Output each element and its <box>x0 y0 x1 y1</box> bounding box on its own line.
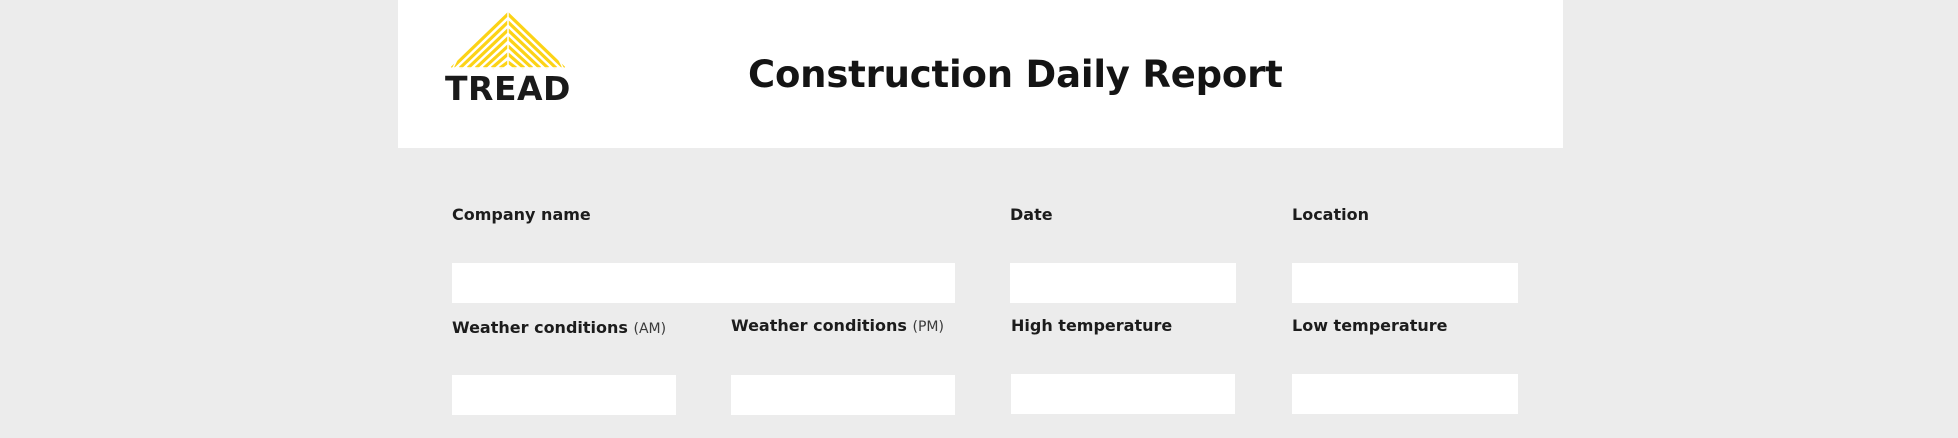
input-high-temperature[interactable] <box>1011 374 1235 414</box>
input-company-name[interactable] <box>452 263 955 303</box>
label-company-name: Company name <box>452 205 955 225</box>
label-low-temperature-text: Low temperature <box>1292 316 1447 335</box>
label-weather-conditions-am-text: Weather conditions <box>452 318 628 337</box>
field-weather-conditions-pm: Weather conditions (PM) <box>731 316 955 415</box>
label-company-name-text: Company name <box>452 205 591 224</box>
field-company-name: Company name <box>452 205 955 303</box>
field-low-temperature: Low temperature <box>1292 316 1518 414</box>
label-location-text: Location <box>1292 205 1369 224</box>
label-location: Location <box>1292 205 1518 225</box>
label-date-text: Date <box>1010 205 1053 224</box>
field-location: Location <box>1292 205 1518 303</box>
label-weather-conditions-am: Weather conditions (AM) <box>452 318 676 339</box>
label-weather-conditions-pm-text: Weather conditions <box>731 316 907 335</box>
label-date: Date <box>1010 205 1236 225</box>
label-high-temperature: High temperature <box>1011 316 1235 336</box>
field-high-temperature: High temperature <box>1011 316 1235 414</box>
label-weather-conditions-pm-qualifier: (PM) <box>913 319 944 335</box>
input-weather-conditions-am[interactable] <box>452 375 676 415</box>
label-low-temperature: Low temperature <box>1292 316 1518 336</box>
input-location[interactable] <box>1292 263 1518 303</box>
field-weather-conditions-am: Weather conditions (AM) <box>452 318 676 415</box>
brand-logo: TREAD <box>448 12 568 124</box>
label-high-temperature-text: High temperature <box>1011 316 1172 335</box>
input-date[interactable] <box>1010 263 1236 303</box>
page-title: Construction Daily Report <box>748 0 1283 148</box>
chevron-mountain-icon <box>450 12 566 70</box>
input-low-temperature[interactable] <box>1292 374 1518 414</box>
input-weather-conditions-pm[interactable] <box>731 375 955 415</box>
label-weather-conditions-pm: Weather conditions (PM) <box>731 316 955 337</box>
header-panel: TREAD Construction Daily Report <box>398 0 1563 148</box>
field-date: Date <box>1010 205 1236 303</box>
brand-wordmark: TREAD <box>445 72 571 105</box>
label-weather-conditions-am-qualifier: (AM) <box>634 321 667 337</box>
